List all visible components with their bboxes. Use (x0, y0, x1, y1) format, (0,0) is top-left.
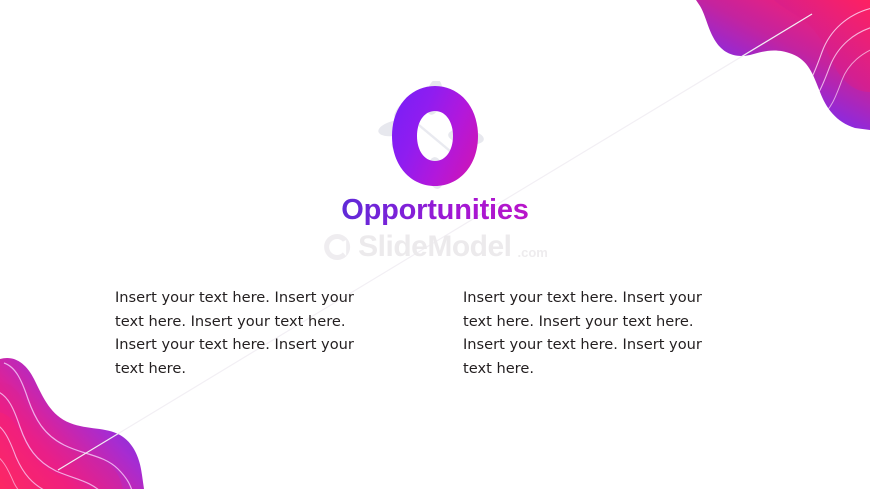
body-column-left: Insert your text here. Insert your text … (115, 286, 372, 380)
presentation-slide: Opportunities SlideModel .com Insert you… (0, 0, 870, 489)
watermark-logo-icon (322, 232, 352, 262)
bottom-left-blob-stroke-4 (0, 453, 32, 489)
logo-and-title-block: Opportunities (0, 84, 870, 225)
bottom-left-blob-stroke-2 (0, 391, 104, 489)
diagonal-accent-line (0, 0, 870, 489)
bottom-left-blob-inner (0, 412, 94, 489)
watermark-tld: .com (518, 246, 548, 262)
logo-mark (345, 84, 525, 188)
watermark-name: SlideModel (358, 232, 511, 262)
body-text-columns: Insert your text here. Insert your text … (115, 286, 755, 380)
page-title: Opportunities (341, 196, 529, 225)
bottom-left-blob-middle (0, 382, 124, 489)
top-right-blob-inner (768, 0, 870, 92)
bottom-left-blob-stroke-3 (0, 423, 50, 489)
body-text-left[interactable]: Insert your text here. Insert your text … (115, 286, 372, 380)
slidemodel-watermark: SlideModel .com (322, 232, 548, 262)
body-column-right: Insert your text here. Insert your text … (463, 286, 720, 380)
opportunities-o-logo-icon (389, 84, 481, 188)
bottom-left-blob-stroke-1 (4, 363, 134, 489)
decorative-blob-layer (0, 0, 870, 489)
body-text-right[interactable]: Insert your text here. Insert your text … (463, 286, 720, 380)
